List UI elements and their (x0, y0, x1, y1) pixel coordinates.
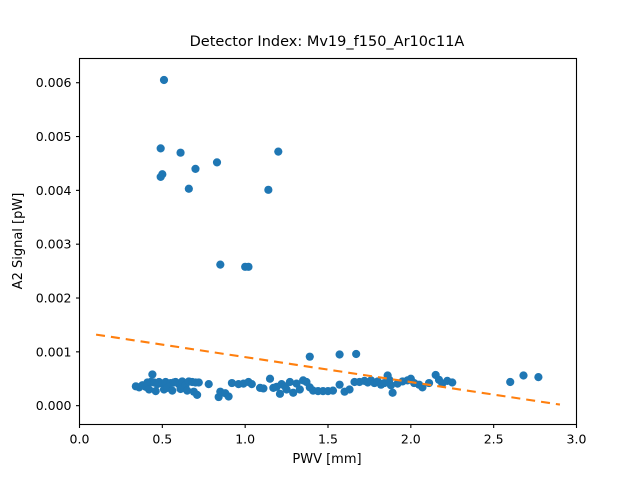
scatter-point (191, 165, 199, 173)
x-tick-label: 2.5 (484, 432, 504, 447)
scatter-point (336, 350, 344, 358)
scatter-point (296, 385, 304, 393)
y-tick-label: 0.003 (36, 237, 72, 252)
x-tick-label: 3.0 (567, 432, 587, 447)
scatter-point (352, 350, 360, 358)
scatter-point (345, 385, 353, 393)
scatter-point (225, 392, 233, 400)
scatter-point (534, 373, 542, 381)
scatter-point (248, 380, 256, 388)
scatter-point (195, 378, 203, 386)
scatter-point (506, 378, 514, 386)
scatter-point (336, 381, 344, 389)
scatter-point (306, 353, 314, 361)
scatter-point (160, 76, 168, 84)
scatter-point (193, 391, 201, 399)
x-axis-label: PWV [mm] (292, 452, 361, 467)
scatter-point (168, 386, 176, 394)
y-axis-label: A2 Signal [pW] (11, 193, 26, 290)
y-tick-label: 0.002 (36, 291, 72, 306)
matplotlib-figure: Detector Index: Mv19_f150_Ar10c11A 0.00.… (0, 0, 640, 480)
scatter-point (148, 370, 156, 378)
scatter-point (266, 375, 274, 383)
x-tick-label: 0.0 (70, 432, 90, 447)
scatter-point (176, 149, 184, 157)
y-tick-label: 0.005 (36, 129, 72, 144)
scatter-point (205, 380, 213, 388)
scatter-point (329, 386, 337, 394)
scatter-point (244, 263, 252, 271)
scatter-point (152, 387, 160, 395)
scatter-point (264, 186, 272, 194)
scatter-point (213, 158, 221, 166)
plot-title: Detector Index: Mv19_f150_Ar10c11A (190, 34, 465, 50)
x-tick-label: 1.5 (318, 432, 338, 447)
scatter-point (185, 185, 193, 193)
scatter-point (389, 389, 397, 397)
figure-background (0, 0, 640, 480)
y-tick-label: 0.006 (36, 75, 72, 90)
scatter-plot-canvas: Detector Index: Mv19_f150_Ar10c11A 0.00.… (0, 0, 640, 480)
scatter-point (519, 371, 527, 379)
y-tick-label: 0.001 (36, 344, 72, 359)
scatter-point (274, 148, 282, 156)
scatter-point (157, 173, 165, 181)
y-tick-label: 0.004 (36, 183, 72, 198)
y-tick-label: 0.000 (36, 398, 72, 413)
scatter-point (448, 378, 456, 386)
scatter-point (157, 144, 165, 152)
x-tick-label: 0.5 (152, 432, 172, 447)
x-tick-label: 1.0 (235, 432, 255, 447)
scatter-point (216, 261, 224, 269)
scatter-point (425, 379, 433, 387)
x-tick-label: 2.0 (401, 432, 421, 447)
scatter-point (259, 384, 267, 392)
